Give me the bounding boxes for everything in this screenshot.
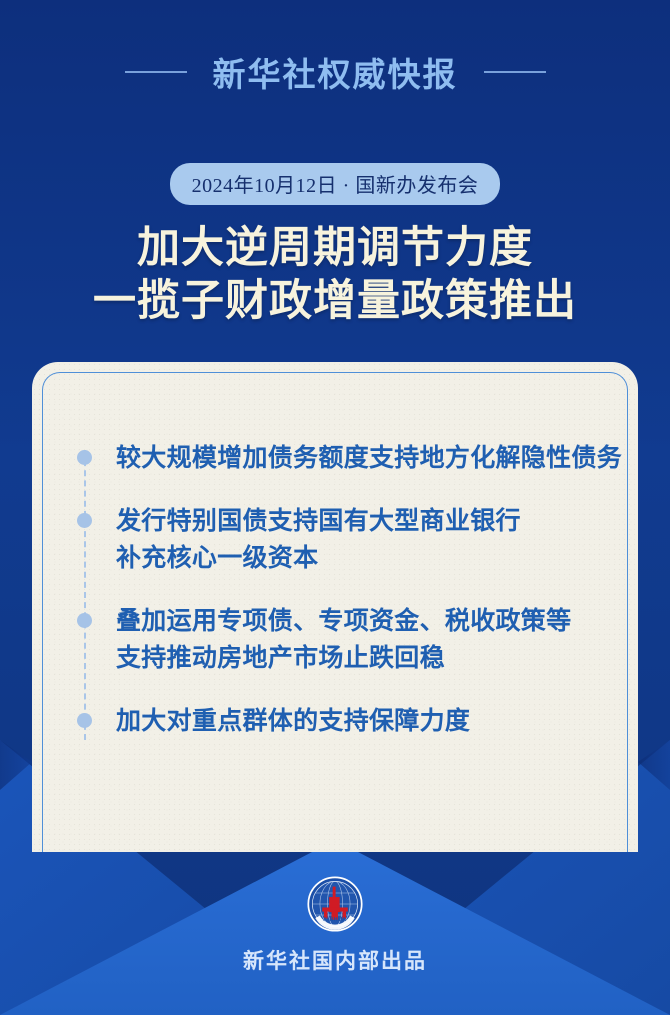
- bullet-dot-icon: [77, 613, 92, 628]
- page-title-line-2: 一揽子财政增量政策推出: [0, 275, 670, 328]
- content-card: 较大规模增加债务额度支持地方化解隐性债务发行特别国债支持国有大型商业银行补充核心…: [32, 362, 638, 852]
- list-item: 较大规模增加债务额度支持地方化解隐性债务: [84, 440, 612, 477]
- bullet-dot-icon: [77, 713, 92, 728]
- list-item-text: 发行特别国债支持国有大型商业银行补充核心一级资本: [116, 503, 521, 577]
- page-title: 加大逆周期调节力度 一揽子财政增量政策推出: [0, 222, 670, 328]
- page-title-line-1: 加大逆周期调节力度: [0, 222, 670, 275]
- list-item-text: 加大对重点群体的支持保障力度: [116, 703, 470, 740]
- footer: XINHUA 新华社国内部出品: [0, 875, 670, 975]
- date-badge-wrap: 2024年10月12日 · 国新办发布会: [0, 163, 670, 205]
- header-title: 新华社权威快报: [213, 48, 458, 96]
- list-item: 叠加运用专项债、专项资金、税收政策等支持推动房地产市场止跌回稳: [84, 603, 612, 677]
- list-item-line: 发行特别国债支持国有大型商业银行: [116, 503, 521, 540]
- poster-root: 新华社权威快报 2024年10月12日 · 国新办发布会 加大逆周期调节力度 一…: [0, 0, 670, 1015]
- list-item-text: 较大规模增加债务额度支持地方化解隐性债务: [116, 440, 622, 477]
- xinhua-logo-icon: XINHUA: [306, 875, 364, 933]
- list-item-line: 加大对重点群体的支持保障力度: [116, 703, 470, 740]
- footer-text: 新华社国内部出品: [0, 945, 670, 975]
- list-item-line: 叠加运用专项债、专项资金、税收政策等: [116, 603, 571, 640]
- list-item-line: 较大规模增加债务额度支持地方化解隐性债务: [116, 440, 622, 477]
- timeline-dashed-line-icon: [84, 450, 86, 740]
- header-rule-right-icon: [484, 71, 546, 73]
- bullet-dot-icon: [77, 450, 92, 465]
- header-rule-left-icon: [125, 71, 187, 73]
- svg-text:XINHUA: XINHUA: [323, 917, 347, 923]
- list-item-line: 补充核心一级资本: [116, 540, 521, 577]
- list-item-line: 支持推动房地产市场止跌回稳: [116, 640, 571, 677]
- list-item: 发行特别国债支持国有大型商业银行补充核心一级资本: [84, 503, 612, 577]
- list-item-text: 叠加运用专项债、专项资金、税收政策等支持推动房地产市场止跌回稳: [116, 603, 571, 677]
- list-item: 加大对重点群体的支持保障力度: [84, 703, 612, 740]
- bullet-dot-icon: [77, 513, 92, 528]
- policy-list: 较大规模增加债务额度支持地方化解隐性债务发行特别国债支持国有大型商业银行补充核心…: [84, 440, 612, 766]
- header: 新华社权威快报: [0, 48, 670, 96]
- date-badge: 2024年10月12日 · 国新办发布会: [170, 163, 501, 205]
